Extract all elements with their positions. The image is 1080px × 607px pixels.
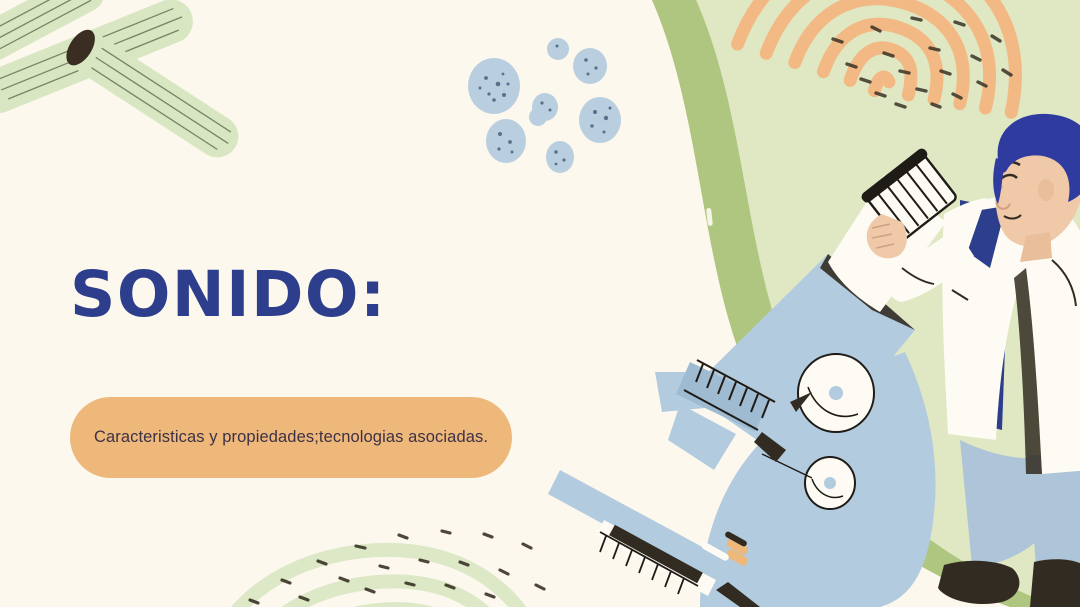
page-title: SONIDO:: [70, 262, 590, 328]
subtitle-text: Caracteristicas y propiedades;tecnologia…: [81, 426, 501, 450]
subtitle-banner: Caracteristicas y propiedades;tecnologia…: [70, 397, 512, 478]
shoe-right: [1030, 559, 1080, 607]
title-block: SONIDO:: [70, 262, 590, 328]
shoe-left: [938, 561, 1019, 604]
presentation-slide: SONIDO: Caracteristicas y propiedades;te…: [0, 0, 1080, 607]
